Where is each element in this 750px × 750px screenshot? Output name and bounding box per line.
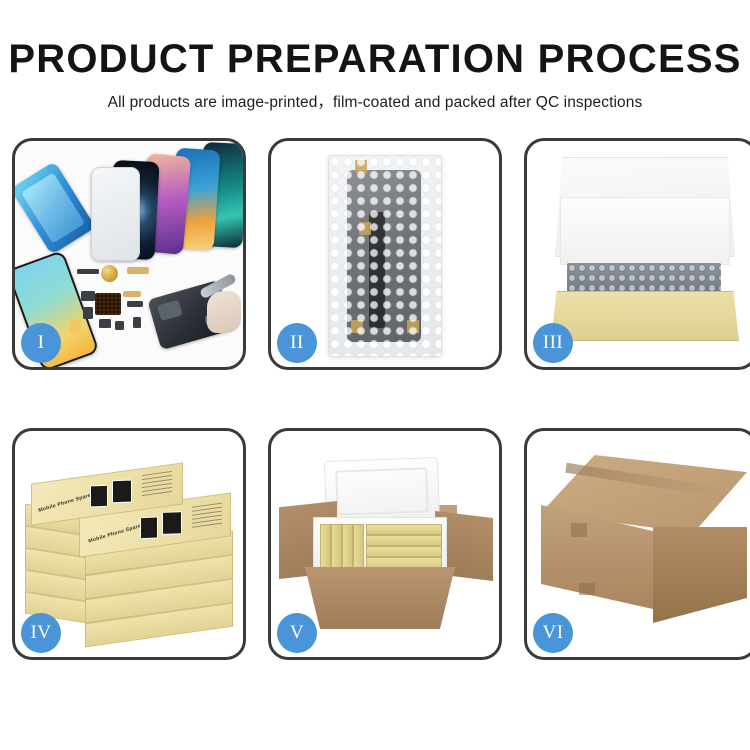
- screen-glass-panel-icon: [91, 167, 140, 261]
- packed-box: [366, 535, 442, 546]
- step-badge-5: V: [277, 613, 317, 653]
- foam-sheet-icon: [560, 197, 730, 265]
- step-panel-inner-box-packing[interactable]: III: [524, 138, 750, 370]
- page-header: PRODUCT PREPARATION PROCESS All products…: [0, 0, 750, 112]
- step-badge-6: VI: [533, 613, 573, 653]
- box-window-phone-2-icon: [162, 511, 182, 535]
- styrofoam-insert-icon: [313, 517, 447, 575]
- step-badge-3: III: [533, 323, 573, 363]
- step-panel-sealed-shipping-carton[interactable]: VI: [524, 428, 750, 660]
- phone-blue-back-icon: [15, 161, 96, 255]
- step-badge-2: II: [277, 323, 317, 363]
- product-preparation-page: PRODUCT PREPARATION PROCESS All products…: [0, 0, 750, 750]
- process-steps-grid: I II: [12, 138, 738, 690]
- page-title: PRODUCT PREPARATION PROCESS: [0, 38, 750, 80]
- packed-box: [353, 524, 364, 570]
- box-stack: Mobile Phone Spare Parts Mobile Phone Sp…: [21, 455, 243, 641]
- step-badge-1: I: [21, 323, 61, 363]
- packed-box: [342, 524, 353, 570]
- part-connector-icon: [127, 301, 143, 307]
- carton-right-face-icon: [653, 527, 747, 623]
- part-speaker-icon: [99, 319, 111, 328]
- packed-box: [331, 524, 342, 570]
- box-spec-lines: [142, 471, 172, 499]
- gold-component-icon: [101, 265, 118, 282]
- step-badge-4: IV: [21, 613, 61, 653]
- box-spec-lines: [192, 503, 222, 531]
- bubble-wrap-bag-icon: [328, 155, 442, 357]
- page-subtitle: All products are image-printed，film-coat…: [0, 90, 750, 112]
- bubble-texture-overlay: [329, 156, 441, 356]
- box-window-phone-icon: [90, 485, 108, 508]
- sim-tray-icon: [69, 319, 81, 333]
- step-panel-foam-carton-packing[interactable]: V: [268, 428, 502, 660]
- part-button-icon: [115, 321, 124, 330]
- step-panel-products-and-parts[interactable]: I: [12, 138, 246, 370]
- step-panel-stacked-retail-boxes[interactable]: Mobile Phone Spare Parts Mobile Phone Sp…: [12, 428, 246, 660]
- packed-box: [320, 524, 331, 570]
- step-panel-bubble-wrapped-part[interactable]: II: [268, 138, 502, 370]
- carton-tab-upper-icon: [571, 523, 587, 537]
- chip-grid-icon: [95, 293, 121, 315]
- box-window-phone-icon: [140, 517, 158, 540]
- box-window-phone-2-icon: [112, 480, 132, 504]
- kraft-box-tray-icon: [551, 291, 739, 341]
- flex-cable-2-icon: [123, 291, 141, 297]
- flex-cable-icon: [127, 267, 149, 274]
- carton-tab-lower-icon: [579, 583, 595, 595]
- part-bracket-icon: [81, 291, 95, 301]
- hand-icon: [207, 291, 241, 333]
- part-clip-icon: [83, 307, 93, 319]
- packed-box: [366, 546, 442, 557]
- part-bar-icon: [77, 269, 99, 274]
- part-module-icon: [133, 317, 141, 328]
- packed-box: [366, 524, 442, 535]
- carton-front-wall-icon: [305, 567, 455, 629]
